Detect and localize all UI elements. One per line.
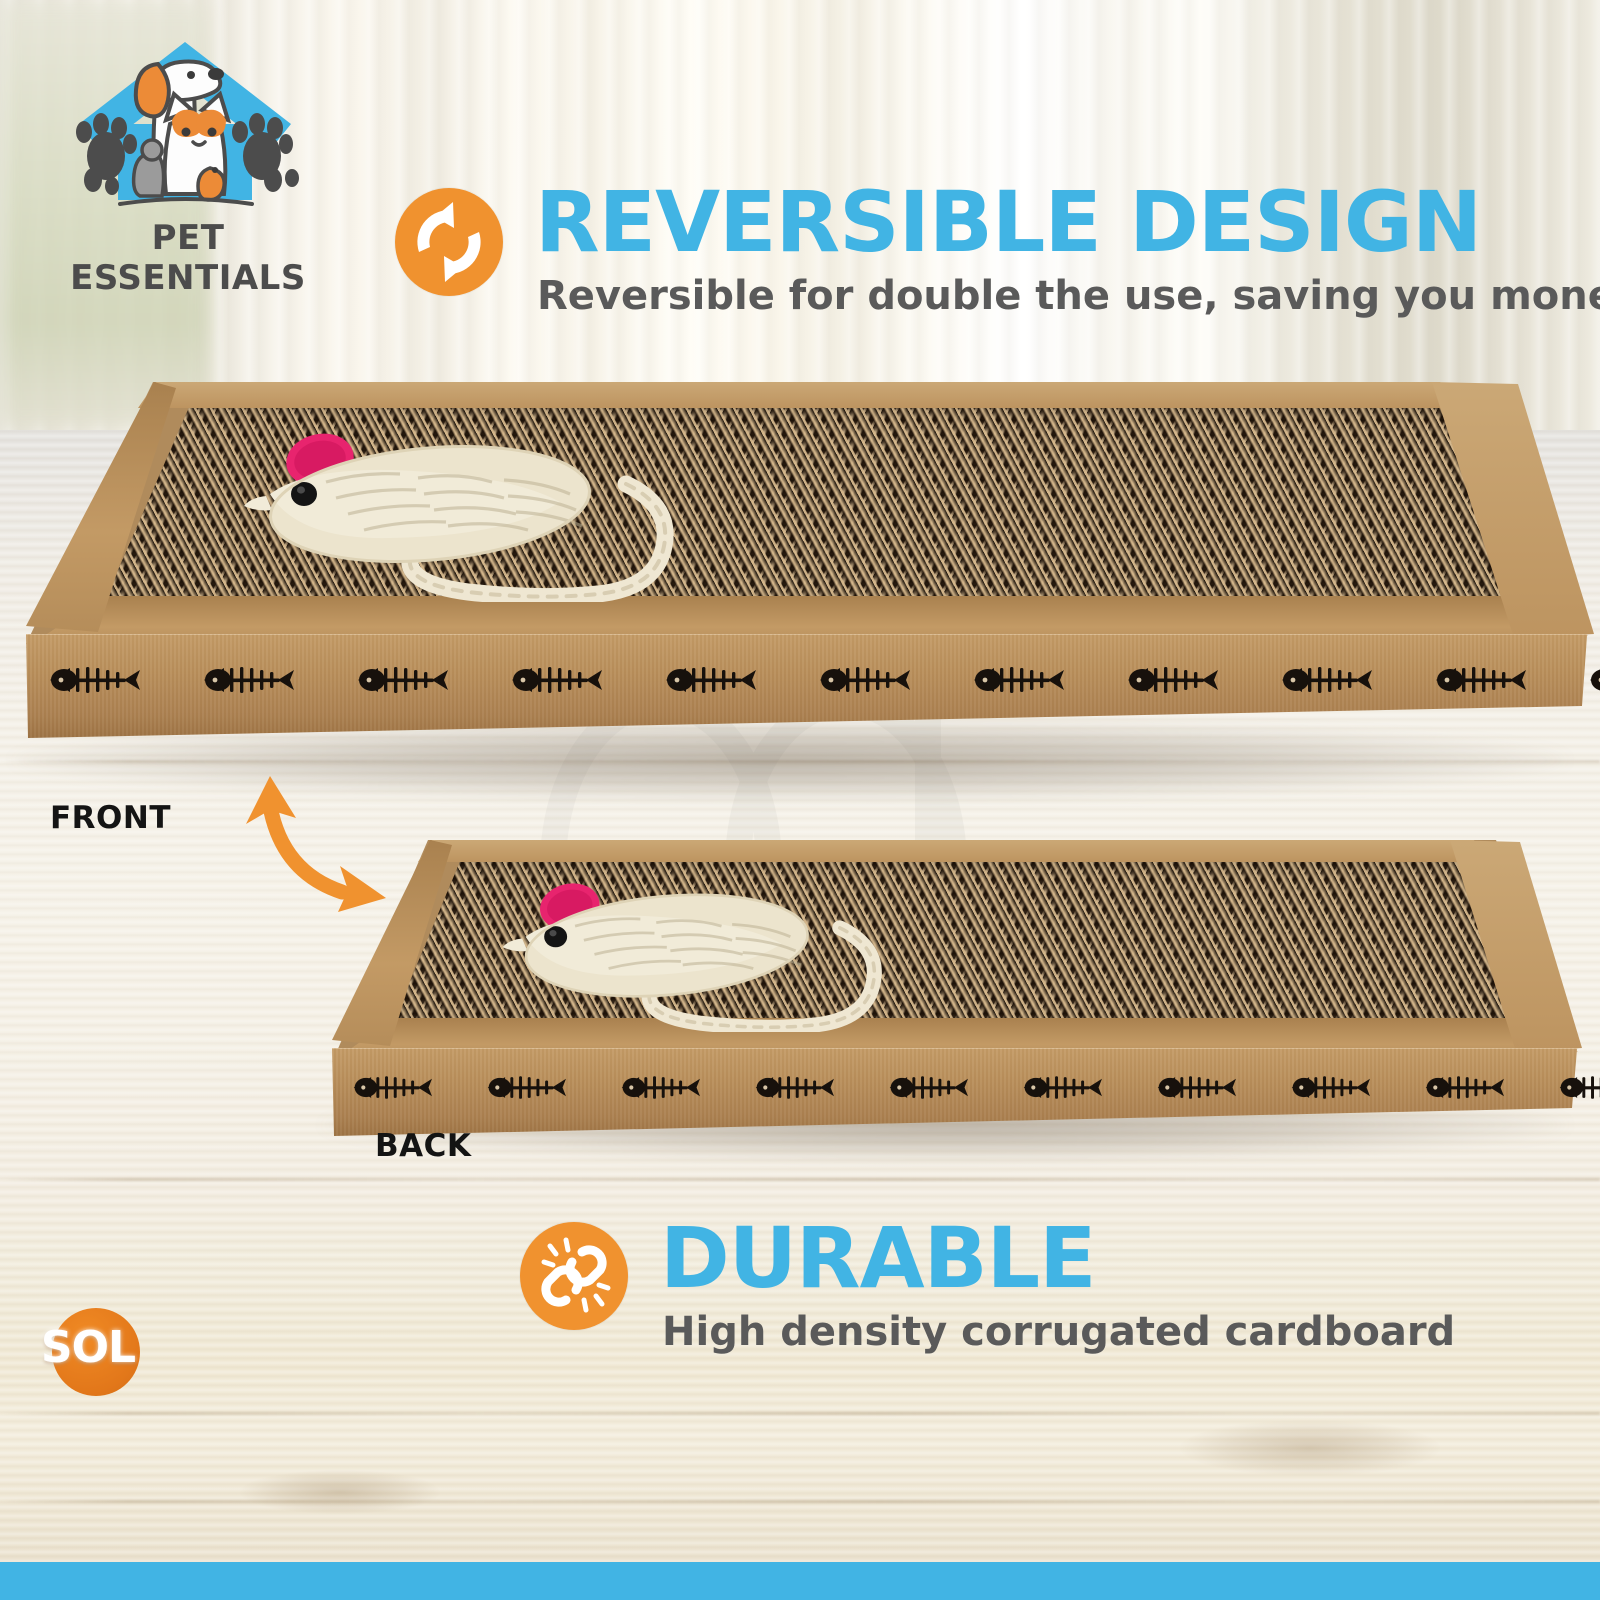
fishbone-icon: [48, 660, 140, 700]
fishbone-icon: [1156, 1070, 1236, 1105]
fishbone-icon: [818, 660, 910, 700]
fishbone-icon: [486, 1070, 566, 1105]
sisal-mouse-toy: [208, 432, 768, 602]
fishbone-icon: [1558, 1070, 1600, 1105]
fishbone-icon: [1290, 1070, 1370, 1105]
product-scratcher-back: [318, 840, 1578, 1140]
footer-bar: [0, 1562, 1600, 1600]
brand-name: PET ESSENTIALS: [38, 218, 338, 298]
fishbone-icon: [1588, 660, 1600, 700]
front-label: FRONT: [50, 800, 171, 836]
refresh-arrows-icon: [395, 188, 503, 296]
fishbone-icon: [1424, 1070, 1504, 1105]
fishbone-icon: [620, 1070, 700, 1105]
product-scratcher-front: [8, 382, 1588, 752]
fishbone-icon: [510, 660, 602, 700]
seller-badge-text: SOL: [28, 1322, 148, 1373]
fishbone-icon: [1280, 660, 1372, 700]
fishbone-icon: [1126, 660, 1218, 700]
seller-badge: SOL: [28, 1300, 148, 1410]
infographic-canvas: PET ESSENTIALS REVERSIBLE DESIGN Reversi…: [0, 0, 1600, 1600]
wood-plank-seam: [0, 1412, 1600, 1415]
fishbone-pattern-row: [48, 652, 1548, 708]
feature-title: REVERSIBLE DESIGN: [535, 180, 1481, 264]
fishbone-pattern-row: [352, 1062, 1552, 1112]
feature-subtitle: High density corrugated cardboard: [662, 1312, 1455, 1352]
fishbone-icon: [352, 1070, 432, 1105]
back-label: BACK: [375, 1128, 471, 1164]
sisal-mouse-toy: [468, 882, 968, 1032]
fishbone-icon: [1434, 660, 1526, 700]
fishbone-icon: [888, 1070, 968, 1105]
pet-house-dog-cat-logo: [60, 28, 310, 218]
wood-knot: [1180, 1420, 1440, 1476]
wood-plank-seam: [0, 1178, 1600, 1181]
fishbone-icon: [972, 660, 1064, 700]
fishbone-icon: [1022, 1070, 1102, 1105]
wood-plank-seam: [0, 1500, 1600, 1503]
wood-knot: [240, 1470, 440, 1514]
brand-logo: PET ESSENTIALS: [38, 28, 338, 278]
fishbone-icon: [664, 660, 756, 700]
fishbone-icon: [754, 1070, 834, 1105]
fishbone-icon: [202, 660, 294, 700]
chain-link-icon: [520, 1222, 628, 1330]
feature-title: DURABLE: [660, 1216, 1096, 1300]
fishbone-icon: [356, 660, 448, 700]
feature-subtitle: Reversible for double the use, saving yo…: [537, 276, 1600, 316]
